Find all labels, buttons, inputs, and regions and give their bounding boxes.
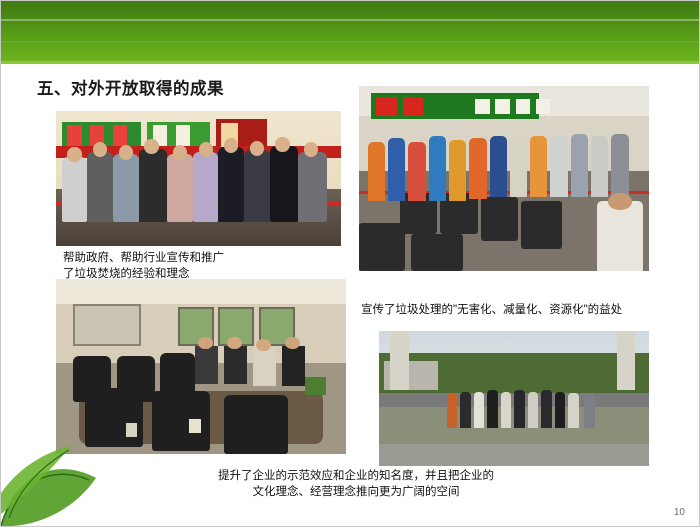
banner-highlight-line-2: [1, 41, 700, 43]
banner-highlight-line-1: [1, 19, 700, 21]
photo-meeting-room: [56, 279, 346, 454]
photo-exhibition-crowd: [56, 111, 341, 246]
banner-bottom-edge: [1, 61, 700, 64]
caption-photo-3: 提升了企业的示范效应和企业的知名度，并且把企业的 文化理念、经营理念推向更为广阔…: [121, 469, 591, 500]
top-banner: [1, 1, 700, 63]
caption-photo-1: 帮助政府、帮助行业宣传和推广 了垃圾焚烧的经验和理念: [63, 251, 343, 282]
page-title: 五、对外开放取得的成果: [37, 75, 224, 99]
photo-auditorium-children: [359, 86, 649, 271]
page-number: 10: [674, 507, 685, 518]
slide-canvas: 五、对外开放取得的成果: [0, 0, 700, 527]
photo-outdoor-group: [379, 331, 649, 466]
caption-photo-2: 宣传了垃圾处理的"无害化、减量化、资源化"的益处: [361, 303, 691, 319]
